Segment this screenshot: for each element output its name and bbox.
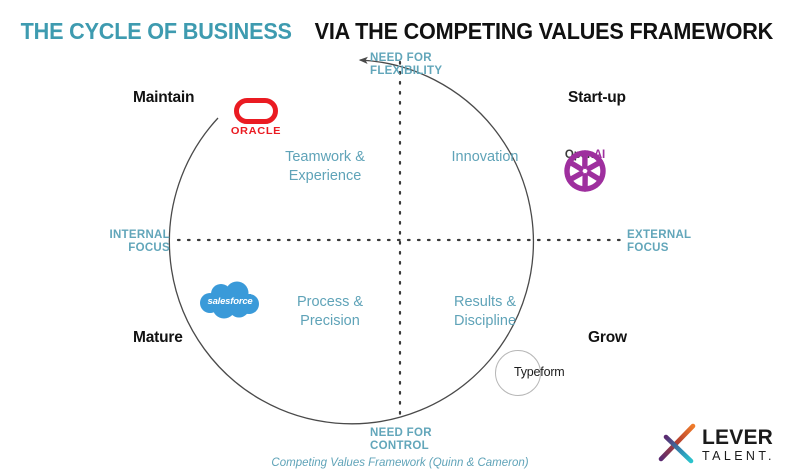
lever-mark-icon: [655, 423, 699, 465]
lever-talent-wordmark: LEVER TALENT.: [702, 427, 775, 464]
cycle-arc: [169, 60, 533, 424]
oracle-wordmark: ORACLE: [227, 125, 286, 137]
oracle-logo: ORACLE: [228, 98, 284, 137]
stage-label-mature: Mature: [133, 329, 183, 347]
axis-label-flexibility-line1: NEED FOR: [370, 52, 442, 65]
salesforce-wordmark: salesforce: [197, 296, 263, 307]
stage-label-grow: Grow: [588, 329, 627, 347]
axis-label-external-line2: FOCUS: [627, 242, 691, 255]
lever-wordmark-line2: TALENT.: [702, 449, 775, 464]
quadrant-label-results: Results & Discipline: [390, 293, 580, 331]
openai-mark-icon: [547, 148, 623, 194]
axis-label-flexibility: NEED FOR FLEXIBILITY: [370, 52, 442, 78]
lever-wordmark-line1: LEVER: [702, 427, 775, 448]
axis-label-external-line1: EXTERNAL: [627, 229, 691, 242]
quadrant-results-line2: Discipline: [390, 312, 580, 331]
openai-logo: OpenAI: [547, 148, 623, 161]
axis-label-control-line2: CONTROL: [370, 440, 432, 453]
axis-label-internal-line2: FOCUS: [109, 242, 170, 255]
axis-label-internal-focus: INTERNAL FOCUS: [109, 229, 170, 255]
cvf-diagram: NEED FOR FLEXIBILITY NEED FOR CONTROL IN…: [0, 0, 800, 475]
lever-talent-logo: LEVER TALENT.: [655, 423, 790, 469]
axis-label-internal-line1: INTERNAL: [109, 229, 170, 242]
typeform-logo: Typeform: [495, 350, 541, 396]
stage-label-startup: Start-up: [568, 89, 626, 107]
axis-label-control: NEED FOR CONTROL: [370, 427, 432, 453]
axis-label-external-focus: EXTERNAL FOCUS: [627, 229, 691, 255]
oracle-mark-icon: [234, 98, 278, 124]
typeform-wordmark: Typeform: [514, 365, 565, 379]
stage-label-maintain: Maintain: [133, 89, 194, 107]
salesforce-logo: salesforce: [197, 281, 263, 323]
axis-label-flexibility-line2: FLEXIBILITY: [370, 65, 442, 78]
quadrant-results-line1: Results &: [390, 293, 580, 312]
quadrant-teamwork-line2: Experience: [230, 167, 420, 186]
axis-label-control-line1: NEED FOR: [370, 427, 432, 440]
